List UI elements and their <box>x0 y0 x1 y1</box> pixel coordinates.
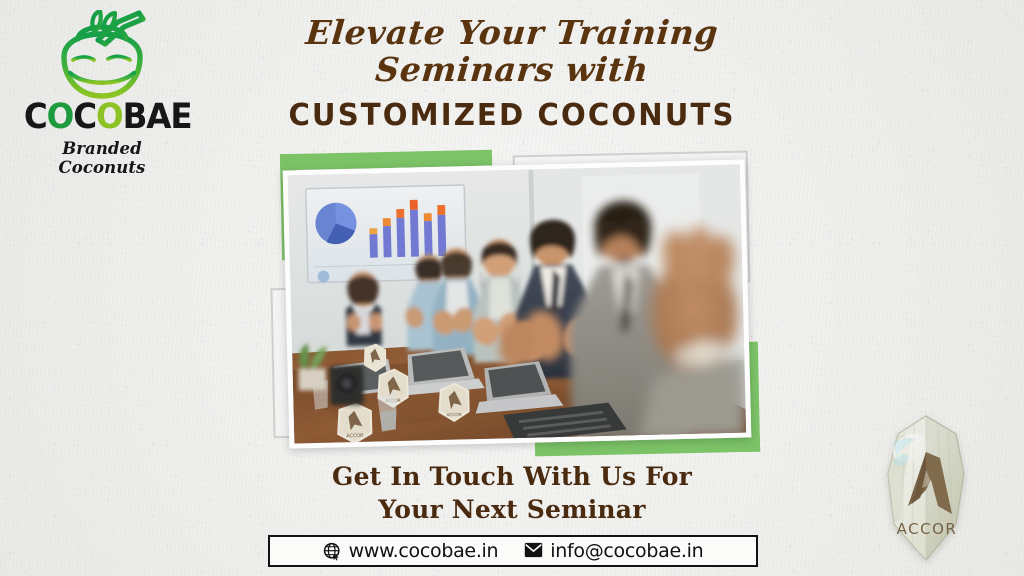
wordmark-o1: O <box>47 97 74 137</box>
globe-icon <box>323 542 342 561</box>
email-text: info@cocobae.in <box>550 540 703 562</box>
website-text: www.cocobae.in <box>349 540 499 562</box>
headline-line-1: Elevate Your Training <box>254 16 769 51</box>
headline-line-2: Seminars with <box>254 53 769 88</box>
email-contact[interactable]: info@cocobae.in <box>524 540 703 562</box>
seminar-photo: ACCOR ACCOR ACCOR <box>283 159 752 448</box>
photo-composition: ACCOR ACCOR ACCOR <box>262 148 772 463</box>
brand-wordmark: COCOBAE <box>24 100 180 135</box>
headline-emphasis: CUSTOMIZED COCONUTS <box>264 98 761 133</box>
contact-bar: www.cocobae.in info@cocobae.in <box>268 535 758 567</box>
cta-line-1: Get In Touch With Us For <box>256 460 768 493</box>
call-to-action-block: Get In Touch With Us For Your Next Semin… <box>256 460 768 526</box>
wordmark-c1: C <box>24 97 47 137</box>
cta-line-2: Your Next Seminar <box>256 493 768 526</box>
wordmark-o2: O <box>96 97 123 137</box>
coconut-with-straw-icon <box>42 10 162 102</box>
brand-tagline: Branded Coconuts <box>18 139 186 177</box>
website-contact[interactable]: www.cocobae.in <box>323 540 499 562</box>
svg-text:ACCOR: ACCOR <box>897 520 958 538</box>
envelope-icon <box>524 542 543 561</box>
headline-block: Elevate Your Training Seminars with CUST… <box>256 16 768 133</box>
brand-logo[interactable]: COCOBAE Branded Coconuts <box>18 10 186 175</box>
wordmark-c2: C <box>73 97 96 137</box>
wordmark-bae: BAE <box>123 97 192 137</box>
promotional-banner: COCOBAE Branded Coconuts Elevate Your Tr… <box>0 0 1024 576</box>
branded-coconut-product: ACCOR <box>868 408 986 568</box>
